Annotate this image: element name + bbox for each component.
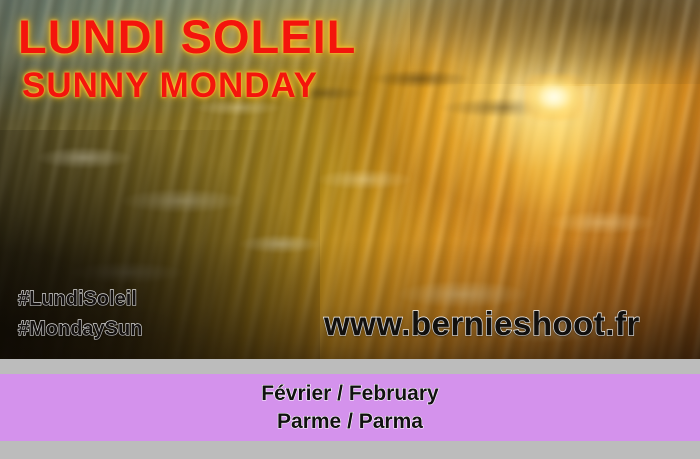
- band-color-parme: Février / February Parme / Parma: [0, 374, 700, 441]
- band-gray-bottom: [0, 441, 700, 459]
- title-french: LUNDI SOLEIL: [18, 12, 356, 62]
- hashtag-lundi-soleil: #LundiSoleil: [18, 284, 142, 314]
- website-url[interactable]: www.bernieshoot.fr: [324, 304, 640, 344]
- title-english: SUNNY MONDAY: [22, 66, 356, 106]
- hashtag-monday-sun: #MondaySun: [18, 314, 142, 344]
- title-block: LUNDI SOLEIL SUNNY MONDAY: [18, 12, 356, 106]
- sunny-monday-poster: LUNDI SOLEIL SUNNY MONDAY #LundiSoleil #…: [0, 0, 700, 459]
- hashtag-block: #LundiSoleil #MondaySun: [18, 284, 142, 344]
- band-month-label: Février / February: [261, 380, 438, 408]
- band-gray-top: [0, 359, 700, 374]
- band-color-label: Parme / Parma: [277, 408, 423, 436]
